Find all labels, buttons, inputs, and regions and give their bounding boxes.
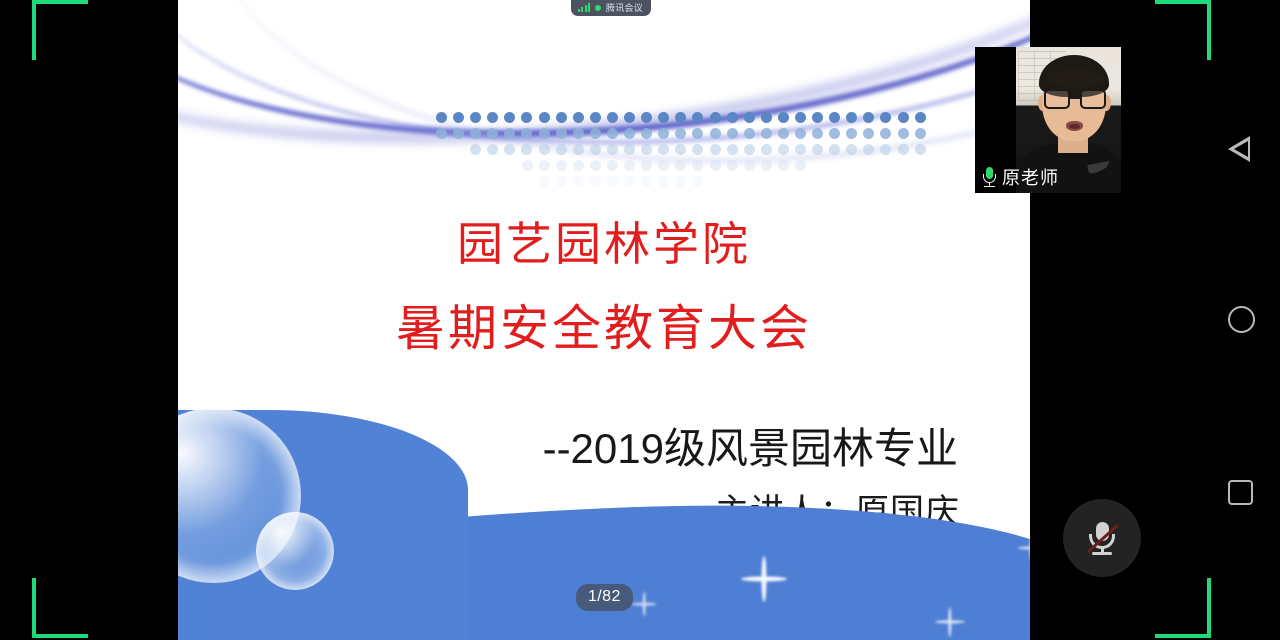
dot-grid-dot [795,112,806,123]
slide-title-line-2: 暑期安全教育大会 [178,304,1030,353]
dot-grid-dot [624,176,635,187]
dot-grid-dot [539,160,550,171]
dot-grid-dot [522,160,533,171]
dot-grid-dot [692,128,703,139]
participant-mouth [1066,121,1083,131]
dot-grid-dot [539,144,550,155]
dot-grid-dot [744,160,755,171]
dot-grid-dot [710,160,721,171]
bubble-decoration [256,512,334,590]
green-status-dot [595,5,601,11]
dot-grid-dot [573,160,584,171]
dot-grid-dot [915,112,926,123]
dot-grid-dot [521,112,532,123]
dot-grid-dot [812,112,823,123]
dot-grid-dot [658,144,669,155]
dot-grid-dot [453,112,464,123]
dot-grid-dot [641,128,652,139]
dot-grid-dot [675,128,686,139]
recording-corner-top-right [1155,0,1211,60]
dot-grid-row [539,176,926,187]
nav-home-button[interactable] [1228,306,1255,333]
dot-grid-dot [487,128,498,139]
dot-grid-dot [898,112,909,123]
dot-grid-dot [846,144,857,155]
dot-grid-dot [624,160,635,171]
dot-grid-dot [607,160,618,171]
dot-grid-dot [692,112,703,123]
dot-grid-dot [504,128,515,139]
dot-grid-dot [761,112,772,123]
dot-grid-dot [573,144,584,155]
participant-name-label: 原老师 [1002,164,1059,190]
dot-grid-dot [880,128,891,139]
signal-bars-icon [578,3,590,12]
dot-grid-dot [812,144,823,155]
dot-grid-dot [573,128,584,139]
dot-grid-dot [761,144,772,155]
slide-title-line-1: 园艺园林学院 [178,222,1030,268]
dot-grid-dot [624,112,635,123]
dot-grid-dot [727,144,738,155]
dot-grid-dot [624,128,635,139]
dot-grid-dot [744,128,755,139]
dot-grid-dot [436,112,447,123]
dot-grid-dot [556,160,567,171]
dot-grid-dot [573,176,584,187]
nav-recents-button[interactable] [1228,480,1253,505]
dot-grid-dot [829,128,840,139]
dot-grid-dot [761,160,772,171]
dot-grid-dot [470,128,481,139]
recording-corner-bottom-left [32,578,88,638]
dot-grid-dot [539,112,550,123]
sparkle-icon [632,592,656,616]
dot-grid-dot [761,128,772,139]
dot-grid-decoration [436,112,926,192]
dot-grid-dot [692,144,703,155]
dot-grid-dot [453,128,464,139]
dot-grid-dot [846,128,857,139]
microphone-icon [981,166,998,188]
dot-grid-row [436,128,926,139]
dot-grid-dot [915,144,926,155]
dot-grid-dot [880,112,891,123]
dot-grid-dot [846,112,857,123]
dot-grid-dot [795,160,806,171]
dot-grid-dot [812,128,823,139]
dot-grid-dot [641,112,652,123]
participant-hair [1046,69,1104,87]
dot-grid-dot [590,144,601,155]
sparkle-icon [935,607,965,637]
dot-grid-dot [863,144,874,155]
dot-grid-dot [590,160,601,171]
dot-grid-dot [590,128,601,139]
dot-grid-dot [556,144,567,155]
dot-grid-dot [607,176,618,187]
dot-grid-dot [658,176,669,187]
dot-grid-dot [539,128,550,139]
dot-grid-row [436,112,926,123]
recording-corner-top-left [32,0,88,60]
dot-grid-row [522,160,926,171]
participant-name-badge: 原老师 [981,164,1059,190]
meeting-app-label: 腾讯会议 [606,1,643,14]
dot-grid-dot [539,176,550,187]
sparkle-icon [1018,535,1030,561]
dot-grid-dot [727,160,738,171]
dot-grid-dot [521,128,532,139]
dot-grid-dot [556,176,567,187]
dot-grid-dot [487,112,498,123]
microphone-muted-icon [1087,520,1117,556]
dot-grid-dot [607,128,618,139]
dot-grid-dot [710,112,721,123]
dot-grid-dot [487,144,498,155]
dot-grid-dot [675,144,686,155]
dot-grid-dot [778,112,789,123]
dot-grid-dot [607,112,618,123]
dot-grid-dot [470,144,481,155]
dot-grid-dot [504,112,515,123]
dot-grid-dot [590,112,601,123]
dot-grid-dot [863,128,874,139]
dot-grid-dot [692,160,703,171]
dot-grid-dot [778,144,789,155]
dot-grid-dot [898,144,909,155]
dot-grid-dot [641,160,652,171]
dot-grid-dot [727,128,738,139]
dot-grid-dot [744,144,755,155]
dot-grid-dot [829,112,840,123]
dot-grid-dot [898,128,909,139]
dot-grid-row [470,144,925,155]
dot-grid-dot [863,112,874,123]
dot-grid-dot [915,128,926,139]
phone-screen: 园艺园林学院 暑期安全教育大会 --2019级风景园林专业 主讲人：原国庆 1/… [0,0,1280,640]
dot-grid-dot [573,112,584,123]
recording-corner-bottom-right [1155,578,1211,638]
dot-grid-dot [880,144,891,155]
dot-grid-dot [675,112,686,123]
dot-grid-dot [692,176,703,187]
dot-grid-dot [590,176,601,187]
dot-grid-dot [470,112,481,123]
dot-grid-dot [658,112,669,123]
dot-grid-dot [778,160,789,171]
dot-grid-dot [710,128,721,139]
slide-title-block: 园艺园林学院 暑期安全教育大会 [178,222,1030,353]
dot-grid-dot [795,144,806,155]
dot-grid-dot [556,112,567,123]
nav-back-icon [1234,141,1248,157]
dot-grid-dot [778,128,789,139]
dot-grid-dot [710,144,721,155]
participant-video-tile[interactable]: 原老师 [975,47,1121,193]
dot-grid-dot [675,160,686,171]
participant-glasses [1044,89,1106,109]
dot-grid-dot [641,144,652,155]
dot-grid-dot [658,128,669,139]
dot-grid-dot [556,128,567,139]
dot-grid-dot [658,160,669,171]
dot-grid-dot [829,144,840,155]
shared-slide[interactable]: 园艺园林学院 暑期安全教育大会 --2019级风景园林专业 主讲人：原国庆 1/… [178,0,1030,640]
dot-grid-dot [641,176,652,187]
dot-grid-dot [436,128,447,139]
dot-grid-dot [624,144,635,155]
page-indicator: 1/82 [576,584,633,611]
sparkle-icon [741,556,787,602]
meeting-status-pill[interactable]: 腾讯会议 [571,0,651,16]
dot-grid-dot [675,176,686,187]
dot-grid-dot [744,112,755,123]
dot-grid-dot [727,112,738,123]
dot-grid-dot [795,128,806,139]
dot-grid-dot [607,144,618,155]
mute-toggle-button[interactable] [1063,499,1141,577]
dot-grid-dot [521,144,532,155]
dot-grid-dot [504,144,515,155]
